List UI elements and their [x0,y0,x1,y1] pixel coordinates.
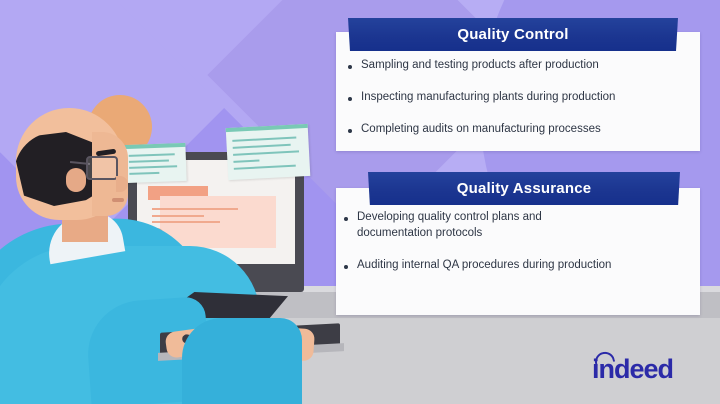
list-item-label: Sampling and testing products after prod… [361,58,599,74]
bullet-dot-icon [348,97,352,101]
indeed-logo: indeed [592,352,698,386]
list-item-label: Developing quality control plans and doc… [357,210,607,242]
bullet-list-quality-assurance: Developing quality control plans and doc… [344,210,692,290]
bullet-dot-icon [344,217,348,221]
person-ear [66,168,86,192]
list-item-label: Auditing internal QA procedures during p… [357,258,611,274]
glasses-lens [86,156,118,180]
bullet-dot-icon [348,129,352,133]
list-item-label: Completing audits on manufacturing proce… [361,122,601,138]
bullet-dot-icon [344,265,348,269]
bullet-list-quality-control: Sampling and testing products after prod… [348,58,692,154]
slide-canvas: Quality Control Sampling and testing pro… [0,0,720,404]
list-item: Completing audits on manufacturing proce… [348,122,692,138]
bullet-dot-icon [348,65,352,69]
person-arm-right [182,318,302,404]
person-mouth [112,198,124,202]
person-avatar [0,0,340,404]
card-title: Quality Control [457,26,568,43]
card-title: Quality Assurance [457,180,592,197]
card-header-quality-assurance: Quality Assurance [368,172,680,205]
list-item: Auditing internal QA procedures during p… [344,258,692,274]
card-header-quality-control: Quality Control [348,18,678,51]
list-item: Developing quality control plans and doc… [344,210,692,242]
list-item: Sampling and testing products after prod… [348,58,692,74]
list-item: Inspecting manufacturing plants during p… [348,90,692,106]
list-item-label: Inspecting manufacturing plants during p… [361,90,615,106]
